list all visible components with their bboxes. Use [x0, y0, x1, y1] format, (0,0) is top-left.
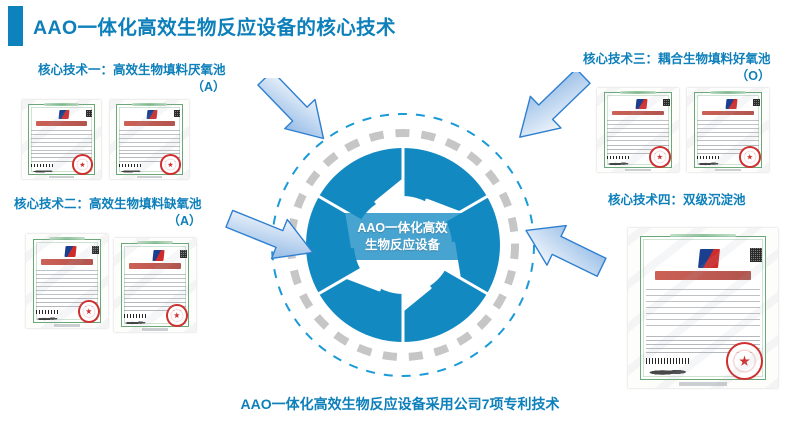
certificate-qr-icon [750, 248, 762, 262]
certificate-top-ornament [710, 91, 746, 94]
certificate-title-band [612, 111, 664, 116]
certificate-qr-icon [174, 110, 180, 117]
certificate-thumbnail[interactable] [114, 238, 196, 332]
certificate-barcode-icon [31, 164, 55, 167]
arrow-to-tech-1 [250, 78, 340, 140]
certificate-footer-note [679, 382, 727, 386]
certificate-footer-note [625, 169, 651, 171]
certificate-title-band [36, 121, 87, 125]
slide-canvas: AAO一体化高效生物反应设备的核心技术 核心技术一：高效生物填料厌氧池 （A） … [0, 0, 800, 439]
certificate-barcode-icon [697, 156, 722, 159]
certificate-title-band [129, 263, 181, 268]
certificate-footer-note [142, 328, 168, 330]
section-label-tech-4: 核心技术四：双级沉淀池 [608, 192, 746, 209]
certificate-emblem-icon [59, 110, 70, 119]
bottom-caption: AAO一体化高效生物反应设备采用公司7项专利技术 [0, 394, 800, 414]
section-label-text: 核心技术一：高效生物填料厌氧池 [38, 63, 226, 77]
certificate-qr-icon [180, 250, 187, 258]
certificate-seal-icon [160, 154, 181, 175]
certificate-footer-note [715, 169, 741, 171]
certificate-title-band [702, 111, 754, 116]
section-label-text: 核心技术二：高效生物填料缺氧池 [14, 197, 202, 211]
certificate-top-ornament [620, 91, 656, 94]
certificate-large[interactable] [628, 228, 778, 388]
certificate-qr-icon [92, 246, 99, 254]
arrow-to-tech-4 [512, 212, 612, 284]
certificate-seal-icon [739, 146, 761, 168]
arrow-to-tech-3 [500, 72, 600, 144]
certificate-barcode-icon [119, 164, 143, 167]
page-title: AAO一体化高效生物反应设备的核心技术 [33, 11, 396, 40]
certificate-emblem-icon [635, 99, 647, 109]
section-label-tech-1: 核心技术一：高效生物填料厌氧池 （A） [38, 62, 226, 96]
certificate-barcode-icon [124, 314, 149, 318]
certificate-top-ornament [132, 103, 167, 106]
certificate-top-ornament [137, 241, 173, 244]
certificate-signature [33, 169, 57, 175]
certificate-footer-note [137, 176, 162, 178]
certificate-thumbnail[interactable] [110, 100, 189, 179]
certificate-thumbnail[interactable] [26, 234, 108, 328]
certificate-signature [649, 367, 694, 378]
certificate-qr-icon [663, 99, 670, 107]
certificate-footer-note [49, 176, 74, 178]
certificate-barcode-icon [607, 156, 632, 159]
certificate-emblem-icon [725, 99, 737, 109]
certificate-signature [698, 161, 723, 167]
section-label-sub: （A） [14, 213, 202, 230]
certificate-emblem-icon [697, 249, 719, 268]
certificate-thumbnail[interactable] [597, 88, 679, 172]
certificate-signature [125, 320, 150, 327]
certificate-footer-note [54, 324, 80, 326]
certificate-title-band [41, 259, 93, 264]
title-accent-bar [8, 6, 23, 46]
certificate-signature [37, 316, 62, 323]
certificate-emblem-icon [147, 110, 158, 119]
certificate-top-ornament [670, 234, 736, 237]
certificate-top-ornament [44, 103, 79, 106]
certificate-thumbnail[interactable] [22, 100, 101, 179]
certificate-barcode-icon [36, 310, 61, 314]
certificate-title-band [124, 121, 175, 125]
section-label-text: 核心技术三：耦合生物填料好氧池 [583, 52, 771, 66]
certificate-qr-icon [86, 110, 92, 117]
certificate-title-band [655, 271, 751, 280]
section-label-tech-3: 核心技术三：耦合生物填料好氧池 （O） [583, 51, 771, 85]
certificate-thumbnail[interactable] [687, 88, 769, 172]
certificate-qr-icon [753, 99, 760, 107]
certificate-seal-icon [649, 146, 671, 168]
certificate-signature [121, 169, 145, 175]
certificate-seal-icon [726, 342, 763, 380]
certificate-barcode-icon [646, 358, 691, 364]
certificate-top-ornament [49, 237, 85, 240]
arrow-to-tech-2 [222, 205, 322, 267]
certificate-seal-icon [166, 304, 188, 328]
section-label-sub: （O） [583, 68, 771, 85]
section-label-sub: （A） [38, 79, 226, 96]
section-label-tech-2: 核心技术二：高效生物填料缺氧池 （A） [14, 196, 202, 230]
certificate-signature [608, 161, 633, 167]
pinwheel-wheel [305, 148, 500, 342]
certificate-seal-icon [72, 154, 93, 175]
certificate-seal-icon [78, 300, 100, 324]
certificate-text-lines [646, 289, 760, 340]
certificate-emblem-icon [152, 250, 164, 261]
certificate-emblem-icon [64, 246, 76, 257]
section-label-text: 核心技术四：双级沉淀池 [608, 193, 746, 207]
